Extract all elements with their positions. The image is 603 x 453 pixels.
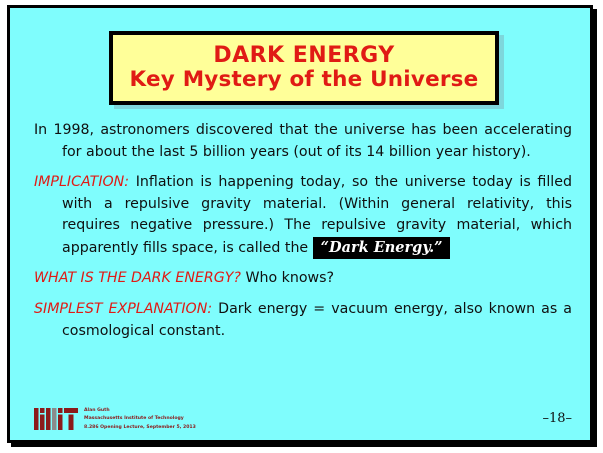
paragraph-discovery: In 1998, astronomers discovered that the… (34, 120, 572, 163)
slide-footer: Alan Guth Massachusetts Institute of Tec… (34, 407, 196, 432)
footer-attribution: Alan Guth Massachusetts Institute of Tec… (84, 407, 196, 432)
presentation-slide: DARK ENERGY Key Mystery of the Universe … (7, 5, 593, 443)
slide-title-box: DARK ENERGY Key Mystery of the Universe (109, 31, 499, 105)
page-number: –18– (542, 411, 572, 426)
footer-institution: Massachusetts Institute of Technology (84, 415, 196, 423)
footer-lecture: 8.286 Opening Lecture, September 5, 2013 (84, 424, 196, 432)
footer-author: Alan Guth (84, 407, 196, 415)
dark-energy-highlight-box: “Dark Energy.” (313, 237, 451, 259)
implication-lead-label: IMPLICATION: (34, 174, 129, 190)
what-is-body-text: Who knows? (241, 270, 334, 286)
slide-body: In 1998, astronomers discovered that the… (34, 120, 572, 342)
paragraph-implication: IMPLICATION: Inflation is happening toda… (34, 172, 572, 259)
paragraph-discovery-text: In 1998, astronomers discovered that the… (34, 122, 572, 160)
simplest-explanation-lead-label: SIMPLEST EXPLANATION: (34, 301, 212, 317)
title-line-secondary: Key Mystery of the Universe (130, 68, 479, 92)
title-line-primary: DARK ENERGY (213, 44, 394, 69)
mit-logo (34, 408, 78, 430)
paragraph-what-is: WHAT IS THE DARK ENERGY? Who knows? (34, 268, 572, 290)
what-is-lead-label: WHAT IS THE DARK ENERGY? (34, 270, 241, 286)
paragraph-simplest-explanation: SIMPLEST EXPLANATION: Dark energy = vacu… (34, 299, 572, 342)
